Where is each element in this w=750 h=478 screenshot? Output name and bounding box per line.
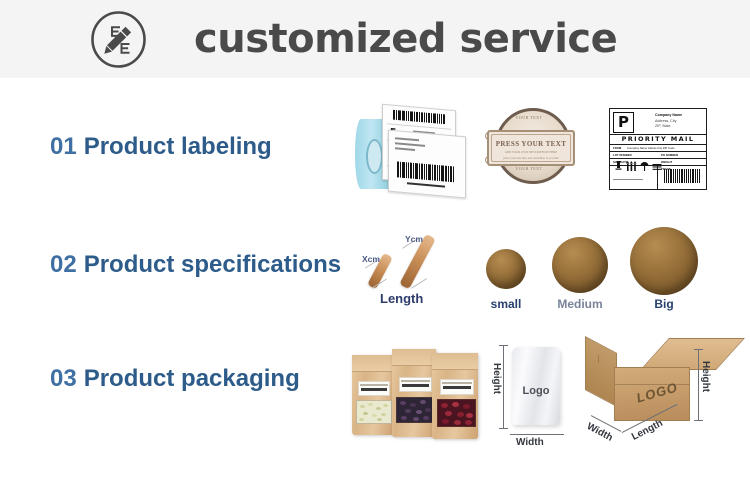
box-height-label: Height — [700, 361, 711, 392]
length-caption: Length — [380, 291, 423, 306]
pm-barcode — [664, 169, 700, 183]
section-product-packaging: 03Product packaging — [0, 335, 750, 455]
sack-body: Logo — [512, 347, 560, 425]
sack-width-label: Width — [516, 437, 544, 448]
carton-box-image: LOGO Height Width Length — [586, 337, 726, 449]
section-1-heading: 01Product labeling — [50, 133, 272, 161]
section-1-number: 01 — [50, 133, 77, 160]
section-2-heading: 02Product specifications — [50, 251, 341, 279]
sack-logo-text: Logo — [512, 385, 560, 397]
section-2-number: 02 — [50, 251, 77, 278]
pouch-2-top — [392, 349, 436, 366]
sphere-big — [630, 227, 698, 295]
pm-weight-label: WEIGHT — [661, 160, 672, 164]
woven-sack-image: Logo Height Width — [492, 339, 584, 449]
pouch-2-window — [396, 397, 434, 423]
sphere-medium-label: Medium — [546, 297, 614, 311]
sphere-small — [486, 249, 526, 289]
ornate-vintage-label-image: YOUR TEXT YOUR TEXT PRESS YOUR TEXT ADD … — [483, 106, 575, 194]
pouch-3 — [432, 353, 478, 439]
pouch-2 — [392, 349, 436, 437]
section-2-title: Product specifications — [84, 251, 341, 278]
pm-company: Company Name — [655, 113, 682, 118]
pouch-3-top — [432, 353, 478, 370]
pouch-1-label — [358, 381, 390, 396]
section-3-title: Product packaging — [84, 365, 300, 392]
pm-from-value: Company Name Adress City ZIP Code — [627, 146, 675, 150]
pouch-3-window — [437, 399, 476, 427]
recycle-lines-icon — [652, 161, 662, 172]
pm-po-label: PO NUMBER — [661, 153, 678, 157]
pencil-design-circle-icon — [89, 10, 148, 69]
barcode-bottom — [397, 161, 455, 182]
sphere-medium — [552, 237, 608, 293]
page-title: customized service — [194, 16, 617, 62]
priority-mail-logo: P — [613, 112, 634, 133]
pm-from-label: FROM — [613, 146, 621, 150]
customized-service-banner: customized service 01Product labeling F — [0, 0, 750, 478]
section-product-specifications: 02Product specifications Xcm Ycm Length … — [0, 215, 750, 335]
section-3-number: 03 — [50, 365, 77, 392]
sphere-big-label: Big — [634, 297, 694, 311]
ornate-bottom-text: YOUR TEXT — [483, 166, 575, 171]
banner-header: customized service — [0, 0, 750, 78]
sack-height-line — [503, 345, 504, 429]
size-spheres-image: small Medium Big — [482, 221, 718, 321]
keep-dry-umbrella-icon — [640, 161, 649, 172]
stick-x-label: Xcm — [362, 254, 380, 264]
pm-lot-label: LOT NUMBER — [613, 153, 632, 157]
box-top-face — [640, 338, 745, 370]
pm-title: PRIORITY MAIL — [610, 135, 706, 144]
box-left-face — [585, 336, 617, 407]
sack-height-label: Height — [491, 363, 502, 394]
sphere-small-label: small — [482, 297, 530, 311]
length-sticks-image: Xcm Ycm Length — [358, 221, 473, 311]
sack-width-line — [510, 434, 564, 435]
pouch-2-label — [399, 377, 432, 392]
thermal-label-roll-image: F — [355, 105, 460, 200]
ornate-sub-text: ADD YOUR OWN DESCRIPTION HERE — [495, 150, 567, 154]
fragile-glass-icon — [614, 161, 623, 172]
ornate-plate: PRESS YOUR TEXT ADD YOUR OWN DESCRIPTION… — [487, 130, 575, 166]
pouch-1 — [352, 355, 394, 435]
kraft-pouches-image — [352, 343, 480, 443]
handling-icons — [614, 161, 662, 172]
ornate-main-text: PRESS YOUR TEXT — [489, 140, 573, 148]
pouch-3-label — [440, 379, 474, 395]
ornate-sub2-text: place your text here and customize as yo… — [495, 156, 567, 160]
priority-mail-label-image: P Company Name Address, City ZIP, State … — [609, 108, 707, 190]
box-length-label: Length — [630, 418, 665, 443]
section-1-title: Product labeling — [84, 133, 272, 160]
section-product-labeling: 01Product labeling F — [0, 100, 750, 210]
label-sheet-lower — [388, 130, 466, 199]
pouch-1-top — [352, 355, 394, 372]
stick-y-label: Ycm — [405, 234, 423, 244]
pm-zip: ZIP, State — [655, 124, 671, 129]
ornate-top-text: YOUR TEXT — [483, 115, 575, 120]
this-way-up-icon — [626, 161, 637, 172]
pouch-1-window — [356, 400, 392, 424]
barcode-top — [393, 110, 445, 125]
section-3-heading: 03Product packaging — [50, 365, 300, 393]
